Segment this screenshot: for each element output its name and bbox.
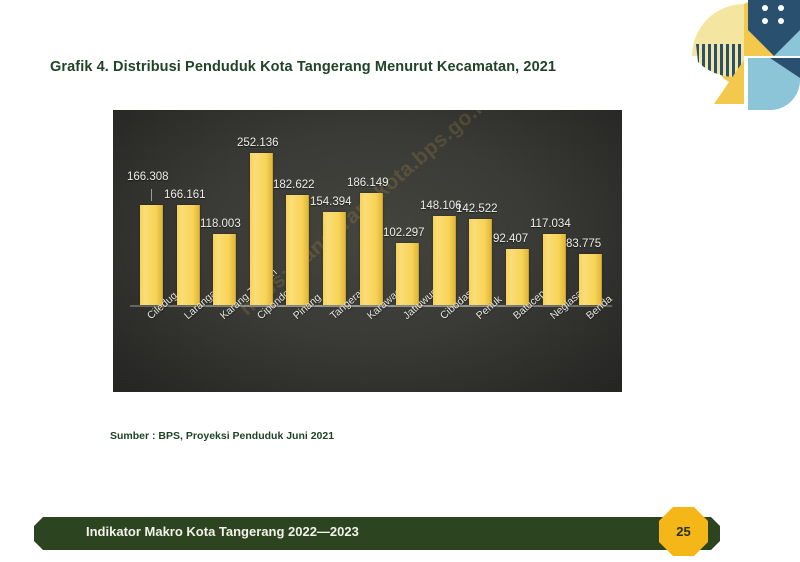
bar-value-label: 186.149 [347,177,389,189]
bar-chart-plot: 166.308Ciledug166.161Larangan118.003Kara… [113,110,622,392]
bar-jatiuwung [396,243,419,305]
bar-value-label: 83.775 [566,238,601,250]
bar-value-label: 142.522 [456,203,498,215]
bar-value-label: 182.622 [273,179,315,191]
bar-periuk [469,219,492,305]
bar-pinang [286,195,309,305]
bar-batuceper [506,249,529,305]
bar-value-label: 252.136 [237,137,279,149]
bar-benda [579,254,602,305]
bar-value-label: 118.003 [200,218,241,230]
source-note: Sumber : BPS, Proyeksi Penduduk Juni 202… [110,430,334,442]
bar-value-label: 117.034 [530,218,571,230]
chart-panel: https://tangerangkota.bps.go.id 166.308C… [113,110,622,392]
bar-cibodas [433,216,456,305]
bar-neglasari [543,234,566,305]
bar-cipondoh [250,153,273,305]
bar-ciledug [140,205,163,305]
bar-value-label: 92.407 [493,233,528,245]
bar-tangerang [323,212,346,305]
bar-karawaci [360,193,383,305]
bar-value-label: 154.394 [310,196,352,208]
page-title: Grafik 4. Distribusi Penduduk Kota Tange… [50,59,556,75]
bar-value-label: 102.297 [383,227,425,239]
bar-value-label: 166.161 [164,189,206,201]
bar-value-label: 166.308 [127,171,169,183]
bar-karang-tengah [213,234,236,305]
page-number: 25 [659,507,708,556]
value-leader-line [151,189,152,201]
brand-logo [688,0,800,110]
bar-larangan [177,205,200,305]
footer-title: Indikator Makro Kota Tangerang 2022—2023 [86,524,359,539]
